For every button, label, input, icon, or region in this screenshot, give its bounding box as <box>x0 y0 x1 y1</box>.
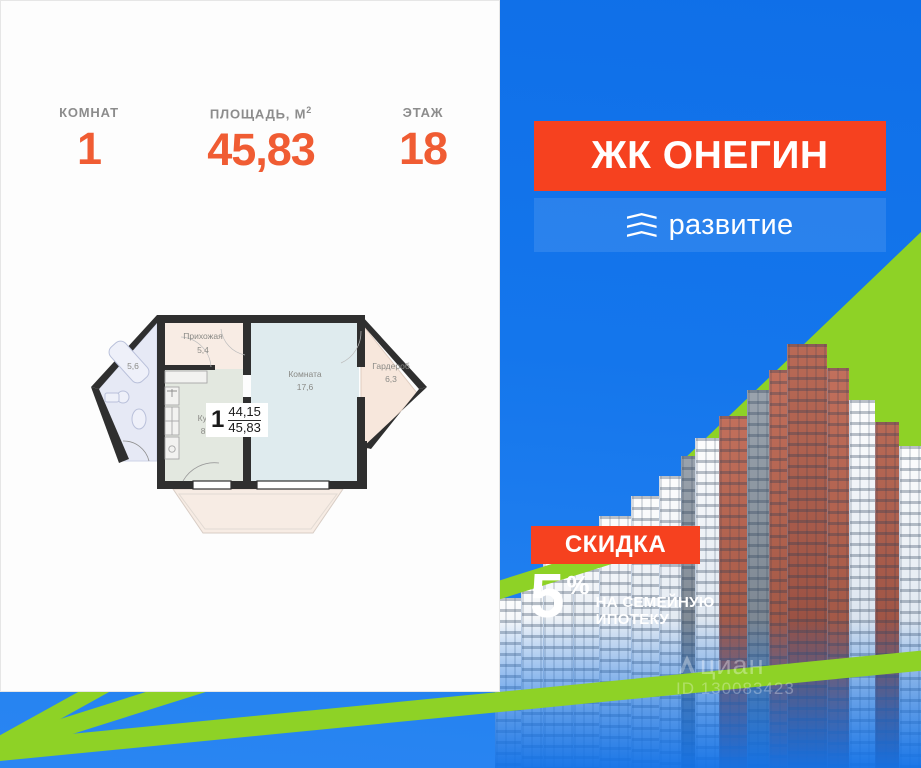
hallway-area-value: 5,4 <box>197 345 209 355</box>
badge-living-area: 44,15 <box>228 405 261 421</box>
stat-rooms-label: КОМНАТ <box>5 105 173 120</box>
plan-summary-badge: 1 44,15 45,83 <box>206 403 268 437</box>
hallway-name: Прихожая <box>183 331 223 341</box>
stat-floor-value: 18 <box>349 126 497 171</box>
badge-total-area: 45,83 <box>228 421 261 436</box>
discount-badge: СКИДКА <box>531 526 700 564</box>
developer-name-text: развитие <box>669 209 794 242</box>
stat-rooms: КОМНАТ 1 <box>1 105 177 171</box>
wardrobe-area <box>361 323 417 453</box>
developer-banner: развитие <box>534 198 886 252</box>
chevron-stack-icon <box>627 213 657 237</box>
windows <box>193 481 347 489</box>
discount-line-1: НА СЕМЕЙНУЮ <box>596 594 715 611</box>
bathroom-area-value: 5,6 <box>127 361 139 371</box>
balcony-area <box>173 489 343 533</box>
floorplan-card: КОМНАТ 1 ПЛОЩАДЬ, М2 45,83 ЭТАЖ 18 <box>0 0 500 692</box>
room-name: Комната <box>288 369 322 379</box>
stat-floor-label: ЭТАЖ <box>349 105 497 120</box>
wardrobe-name: Гардероб <box>372 361 410 371</box>
discount-details: 5 % НА СЕМЕЙНУЮ ИПОТЕКУ <box>524 568 754 640</box>
stat-floor: ЭТАЖ 18 <box>345 105 501 171</box>
stat-area-label: ПЛОЩАДЬ, М2 <box>181 105 341 121</box>
badge-room-count: 1 <box>211 408 224 432</box>
brand-name-banner: ЖК ОНЕГИН <box>534 121 886 191</box>
stat-area: ПЛОЩАДЬ, М2 45,83 <box>177 105 345 172</box>
badge-areas: 44,15 45,83 <box>228 405 261 435</box>
stat-area-value: 45,83 <box>181 127 341 172</box>
listing-card: ЖК ОНЕГИН развитие СКИДКА 5 % НА СЕМЕЙНУ… <box>0 0 921 768</box>
wardrobe-area-value: 6,3 <box>385 374 397 384</box>
stats-row: КОМНАТ 1 ПЛОЩАДЬ, М2 45,83 ЭТАЖ 18 <box>1 105 501 172</box>
room-area-value: 17,6 <box>297 382 314 392</box>
stat-rooms-value: 1 <box>5 126 173 171</box>
discount-line-2: ИПОТЕКУ <box>596 611 669 628</box>
brand-name-text: ЖК ОНЕГИН <box>591 134 828 178</box>
discount-value: 5 <box>530 568 564 627</box>
discount-description: НА СЕМЕЙНУЮ ИПОТЕКУ <box>596 594 715 629</box>
discount-label: СКИДКА <box>565 531 666 559</box>
watermark-id: ID 130083423 <box>676 679 795 699</box>
percent-sign: % <box>566 570 589 601</box>
